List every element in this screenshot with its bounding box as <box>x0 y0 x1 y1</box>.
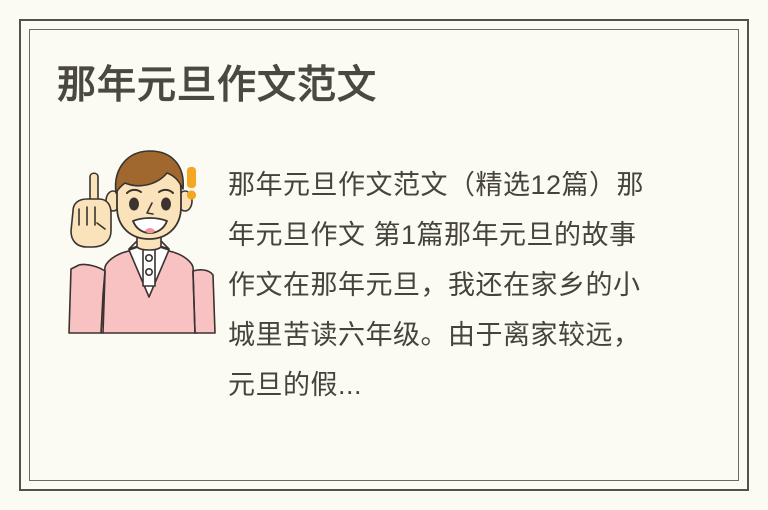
article-summary: 那年元旦作文范文（精选12篇）那年元旦作文 第1篇那年元旦的故事作文在那年元旦，… <box>228 160 648 410</box>
page-title: 那年元旦作文范文 <box>57 62 377 110</box>
exclamation-accent <box>187 167 196 200</box>
man-pointing-up-illustration <box>57 145 217 335</box>
article-card-page: 那年元旦作文范文 <box>0 0 768 510</box>
